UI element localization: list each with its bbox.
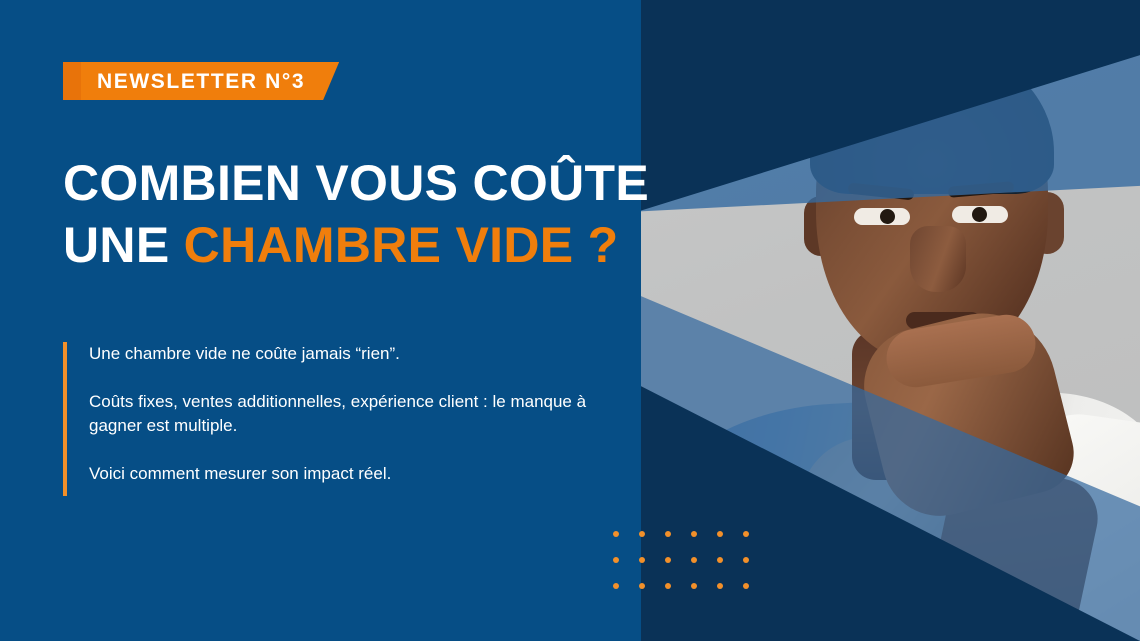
subject-right-pupil	[972, 207, 987, 222]
subject-hair	[810, 44, 1054, 194]
dot	[613, 557, 619, 563]
dot	[691, 531, 697, 537]
subject-nose	[910, 226, 966, 292]
dot	[665, 531, 671, 537]
dot	[639, 531, 645, 537]
badge-accent-strip	[63, 62, 81, 100]
body-paragraph-1: Une chambre vide ne coûte jamais “rien”.	[89, 342, 603, 366]
headline-line-1: COMBIEN VOUS COÛTE	[63, 152, 623, 214]
dot	[691, 583, 697, 589]
dot	[743, 531, 749, 537]
body-paragraph-3: Voici comment mesurer son impact réel.	[89, 462, 603, 486]
dot	[613, 583, 619, 589]
dot-grid-decoration	[613, 531, 769, 609]
dot	[743, 583, 749, 589]
newsletter-badge: NEWSLETTER N°3	[63, 62, 339, 100]
dot	[717, 583, 723, 589]
body-paragraph-2: Coûts fixes, ventes additionnelles, expé…	[89, 390, 603, 438]
page-title: COMBIEN VOUS COÛTE UNE CHAMBRE VIDE ?	[63, 152, 623, 276]
dot	[717, 531, 723, 537]
dot	[691, 557, 697, 563]
subject-left-eye	[854, 208, 910, 225]
dot	[743, 557, 749, 563]
headline-line-2-plain: UNE	[63, 217, 184, 273]
subject-left-pupil	[880, 209, 895, 224]
dot	[639, 557, 645, 563]
dot	[665, 557, 671, 563]
dot	[639, 583, 645, 589]
dot	[717, 557, 723, 563]
dot	[613, 531, 619, 537]
dot	[665, 583, 671, 589]
headline-line-2: UNE CHAMBRE VIDE ?	[63, 214, 623, 276]
subject-right-eye	[952, 206, 1008, 223]
body-text-block: Une chambre vide ne coûte jamais “rien”.…	[63, 342, 603, 496]
headline-line-2-accent: CHAMBRE VIDE ?	[184, 217, 619, 273]
newsletter-slide: NEWSLETTER N°3 COMBIEN VOUS COÛTE UNE CH…	[0, 0, 1140, 641]
badge-label: NEWSLETTER N°3	[81, 71, 305, 92]
